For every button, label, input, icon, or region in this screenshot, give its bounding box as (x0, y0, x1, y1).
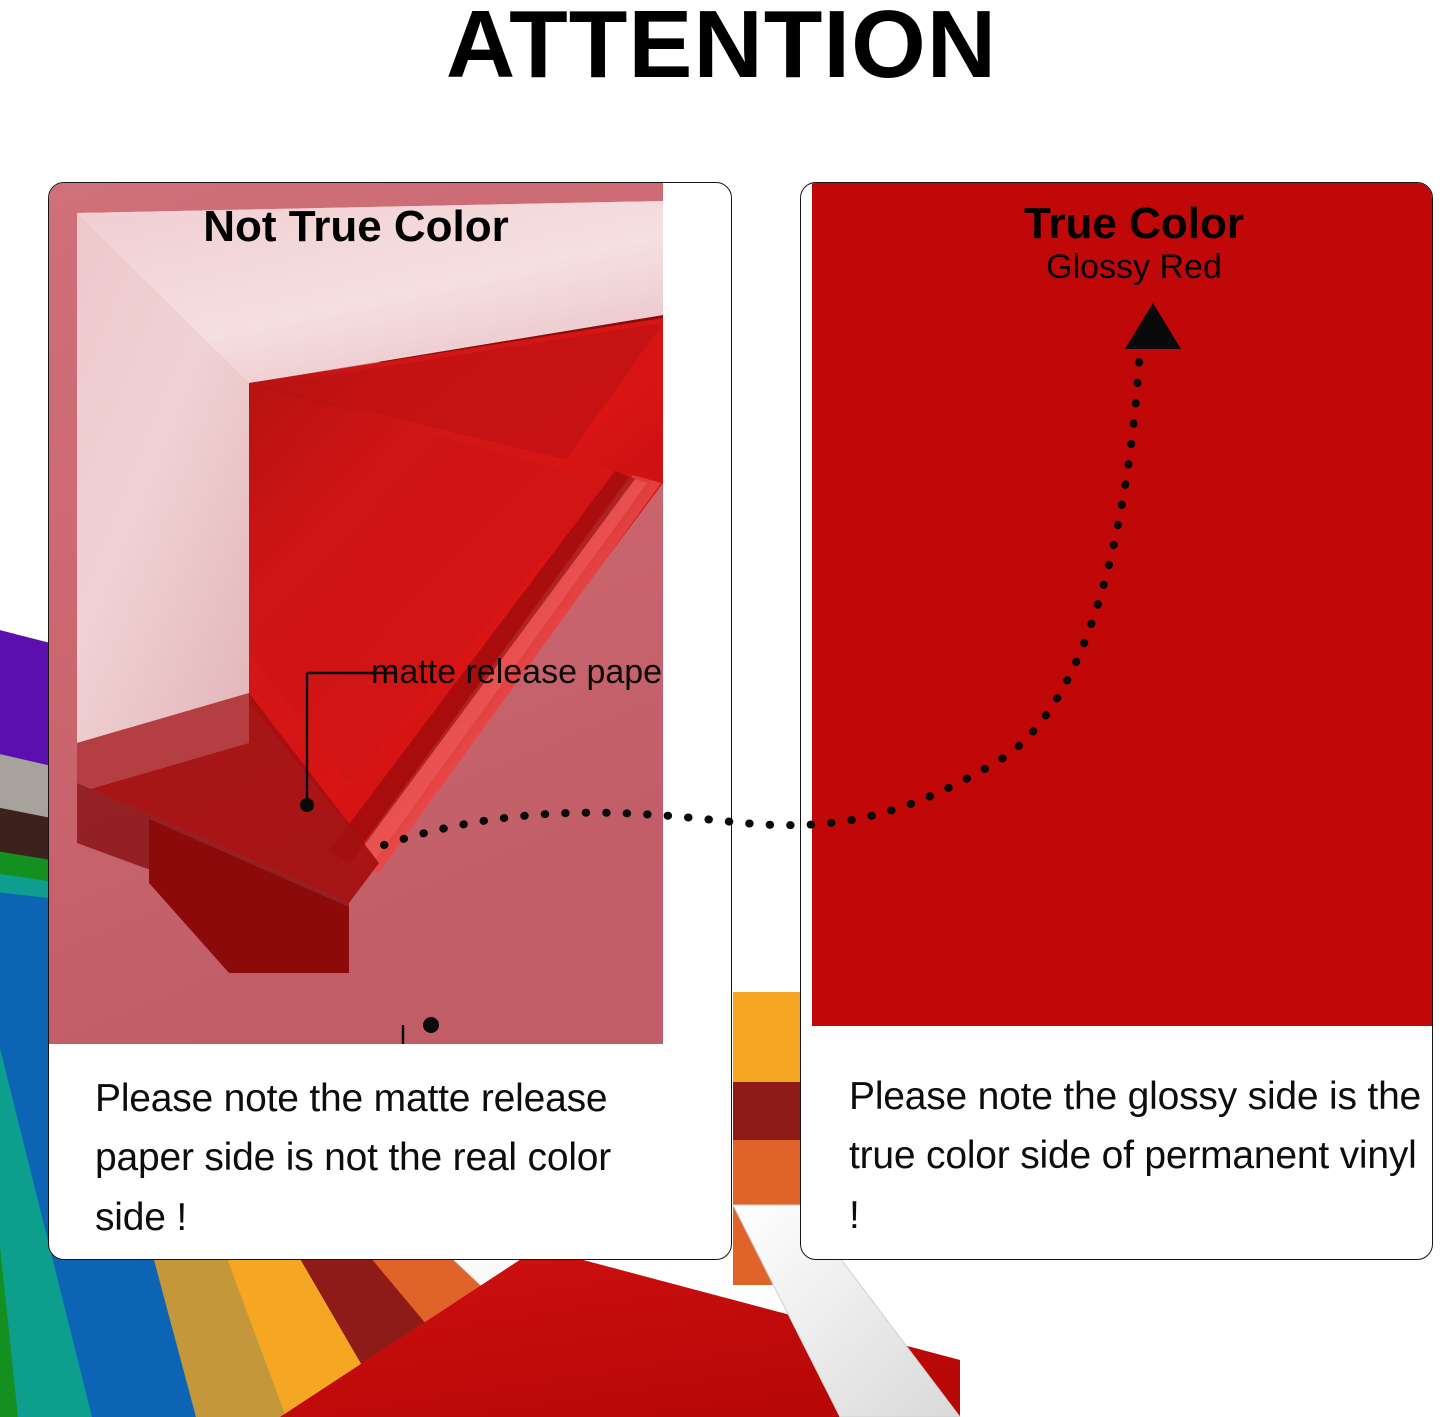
swatch-gold (150, 1245, 300, 1417)
panel-right-heading-main: True Color (1024, 199, 1244, 248)
panel-left-note: Please note the matte release paper side… (95, 1069, 685, 1247)
panel-left-heading: Not True Color (49, 202, 663, 252)
swatch-white (438, 1245, 800, 1417)
callout-matte-release-paper: matte release paper (371, 653, 663, 692)
panel-true-color: True Color Glossy Red Please note the gl… (800, 182, 1433, 1260)
swatch-red-large (280, 1248, 960, 1417)
cutting-anchor-dot (423, 1017, 439, 1033)
panel-right-note: Please note the glossy side is the true … (849, 1067, 1429, 1245)
swatch-orange-2 (733, 1140, 800, 1285)
swatch-amber-2 (733, 992, 800, 1108)
swatch-maroon (292, 1245, 520, 1417)
attention-infographic: ATTENTION (0, 0, 1443, 1417)
panel-not-true-color: Not True Color matte release paper cutti… (48, 182, 732, 1260)
panel-right-subheading: Glossy Red (823, 250, 1433, 284)
swatch-orange (360, 1245, 640, 1417)
panel-right-heading: True Color Glossy Red (823, 202, 1433, 284)
swatch-maroon-2 (733, 1082, 800, 1148)
matte-anchor-dot (300, 798, 314, 812)
arrow-up-icon (1122, 301, 1184, 351)
page-title: ATTENTION (0, 0, 1443, 98)
peeled-vinyl-corner-illustration (49, 183, 663, 1044)
matte-side-photo: Not True Color matte release paper cutti… (49, 183, 663, 1044)
cutting-side-leader (349, 1003, 479, 1044)
glossy-side-photo: True Color Glossy Red (812, 183, 1433, 1026)
swatch-amber (222, 1245, 402, 1417)
